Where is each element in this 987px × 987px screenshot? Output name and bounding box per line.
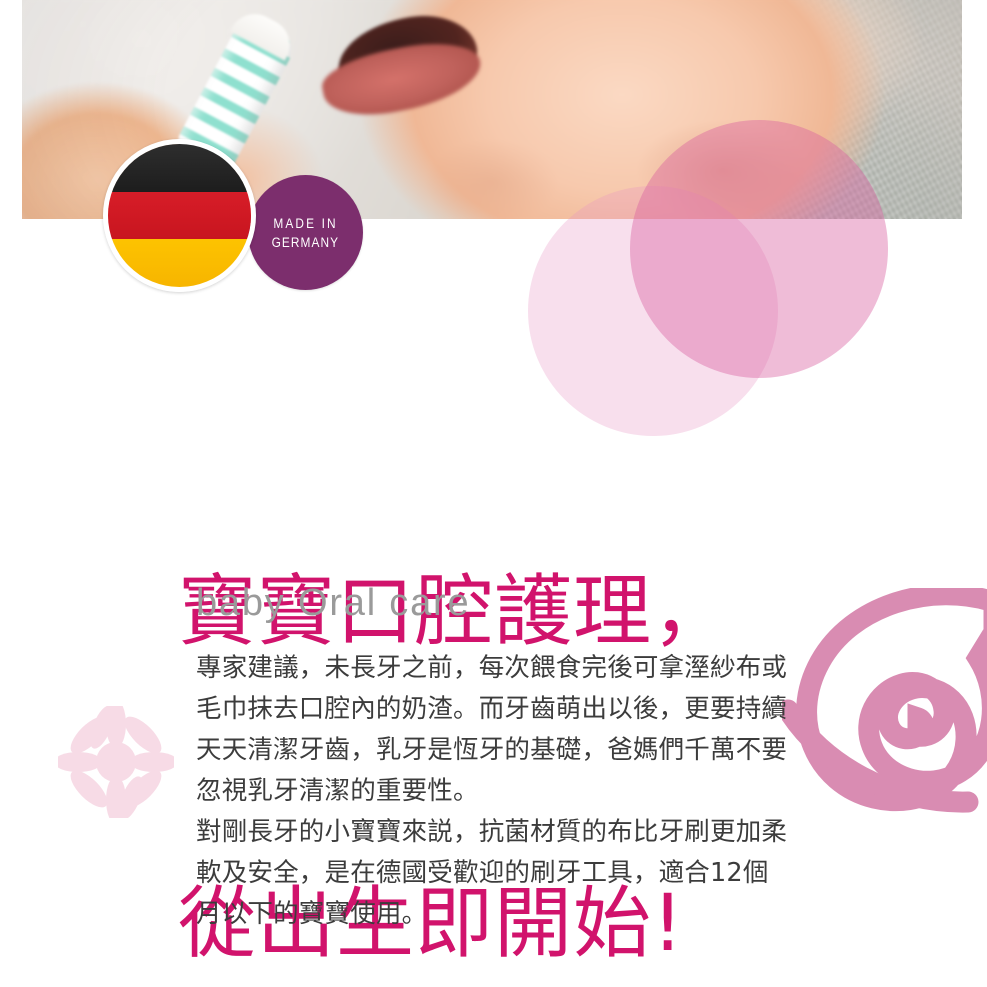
body-paragraph-2: 對剛長牙的小寶寶來説，抗菌材質的布比牙刷更加柔軟及安全，是在德國受歡迎的刷牙工具… [196, 812, 792, 935]
made-in-line1: MADE IN [273, 214, 337, 233]
made-in-line2: GERMANY [272, 233, 339, 252]
subtitle: baby Oral care [196, 580, 470, 626]
promo-page: MADE IN GERMANY 寶寶口腔護理， 從出生即開始! baby Ora… [0, 0, 987, 987]
made-in-germany-badge: MADE IN GERMANY [248, 175, 363, 290]
body-copy: 專家建議，未長牙之前，每次餵食完後可拿溼紗布或毛巾抹去口腔內的奶渣。而牙齒萌出以… [196, 648, 792, 935]
german-flag-roundel [103, 139, 256, 292]
body-paragraph-1: 專家建議，未長牙之前，每次餵食完後可拿溼紗布或毛巾抹去口腔內的奶渣。而牙齒萌出以… [196, 648, 792, 812]
pink-flower-icon [58, 706, 174, 818]
flag-stripe-gold [108, 239, 251, 287]
flag-stripe-red [108, 192, 251, 240]
